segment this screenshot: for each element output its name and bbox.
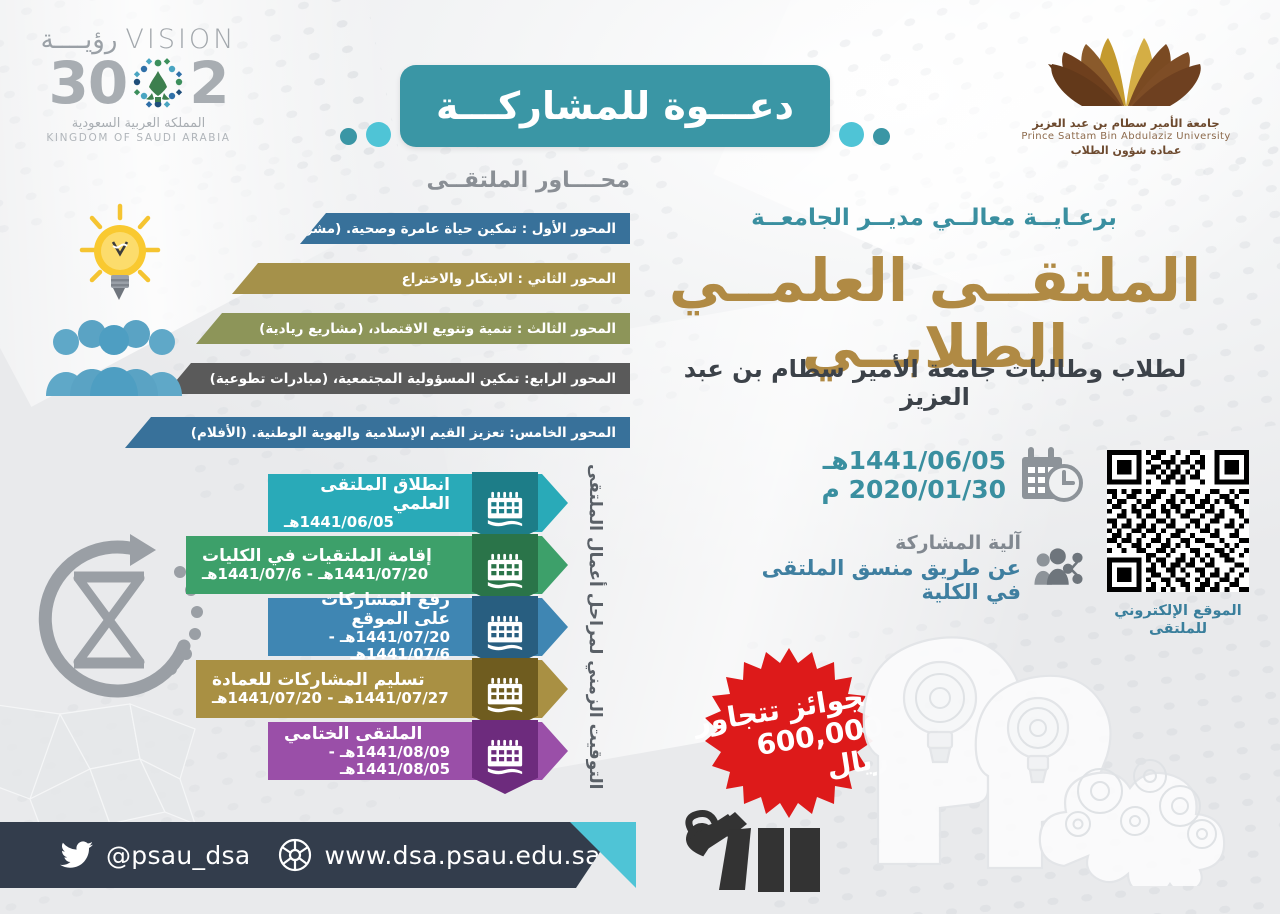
twitter-icon[interactable] xyxy=(60,841,94,869)
university-name-en: Prince Sattam Bin Abdulaziz University xyxy=(1006,131,1246,142)
twitter-handle[interactable]: @psau_dsa xyxy=(106,841,250,870)
qr-block[interactable]: الموقع الإلكتروني للملتقى xyxy=(1098,450,1258,638)
vision-year-left: 2 xyxy=(189,56,228,111)
calendar-clock-icon xyxy=(1018,445,1084,505)
timeline-stage: الملتقى الختامي 1441/08/09هـ - 1441/08/0… xyxy=(268,722,568,780)
timeline-text: تسليم المشاركات للعمادة 1441/07/27هـ - 1… xyxy=(212,660,464,718)
calendar-icon-box xyxy=(472,720,538,794)
heads-gears-decoration xyxy=(850,606,1250,886)
participation-label: آلية المشاركة xyxy=(754,532,1021,554)
timeline-stage-date: 1441/08/09هـ - 1441/08/05هـ xyxy=(284,744,450,778)
theme-label: المحور الرابع: تمكين المسؤولية المجتمعية… xyxy=(210,371,616,387)
timeline-stage-title: تسليم المشاركات للعمادة xyxy=(212,671,425,690)
website-url[interactable]: www.dsa.psau.edu.sa/ar xyxy=(324,841,635,870)
timeline-vertical-text: التوقيت الزمني لمراحل أعمال الملتقى xyxy=(585,464,605,790)
prize-badge: بجوائز تتجاوز 600,000 ريال xyxy=(694,646,884,836)
timeline-stage-date: 1441/07/27هـ - 1441/07/20هـ xyxy=(212,690,449,707)
open-book-emblem-icon xyxy=(1026,18,1226,110)
university-logo: جامعة الأمير سطام بن عبد العزيز Prince S… xyxy=(1006,18,1246,163)
timeline-stage: إقامة الملتقيات في الكليات 1441/07/20هـ … xyxy=(186,536,568,594)
timeline-text: الملتقى الختامي 1441/08/09هـ - 1441/08/0… xyxy=(284,722,464,780)
invitation-pill: دعـــوة للمشاركـــة xyxy=(400,65,830,147)
theme-bar: المحور الرابع: تمكين المسؤولية المجتمعية… xyxy=(165,363,630,394)
calendar-icon xyxy=(485,739,525,775)
qr-caption: الموقع الإلكتروني للملتقى xyxy=(1098,602,1258,638)
hourglass-clock-icon xyxy=(34,528,209,713)
timeline-text: انطلاق الملتقى العلمي 1441/06/05هـ xyxy=(284,474,464,532)
timeline-stage-date: 1441/07/20هـ - 1441/07/6هـ xyxy=(284,629,450,663)
timeline-stage-title: رفع المشاركات على الموقع xyxy=(284,591,450,629)
decorative-dot xyxy=(839,122,864,147)
timeline-stage: انطلاق الملتقى العلمي 1441/06/05هـ xyxy=(268,474,568,532)
starburst-shape xyxy=(694,646,884,836)
theme-label: المحور الأول : تمكين حياة عامرة وصحية. (… xyxy=(247,221,616,237)
themes-section-title: محــــاور الملتقــى xyxy=(427,168,630,193)
participation-value: عن طريق منسق الملتقى في الكلية xyxy=(754,556,1021,604)
people-group-icon xyxy=(44,310,184,396)
decorative-dot xyxy=(340,128,357,145)
globe-icon[interactable] xyxy=(278,838,312,872)
vision-kingdom-en: KINGDOM OF SAUDI ARABIA xyxy=(36,132,241,144)
timeline-vertical-label: التوقيت الزمني لمراحل أعمال الملتقى xyxy=(578,462,612,792)
timeline-stage: رفع المشاركات على الموقع 1441/07/20هـ - … xyxy=(268,598,568,656)
share-people-icon xyxy=(1033,539,1084,597)
theme-label: المحور الثاني : الابتكار والاختراع xyxy=(402,271,616,287)
theme-bar: المحور الثاني : الابتكار والاختراع xyxy=(232,263,630,294)
invitation-label: دعـــوة للمشاركـــة xyxy=(436,84,794,128)
decorative-dot xyxy=(366,122,391,147)
participation-block: آلية المشاركة عن طريق منسق الملتقى في ال… xyxy=(754,532,1084,604)
event-date-text: 1441/06/05هـ 2020/01/30 م xyxy=(822,446,1006,504)
lightbulb-icon xyxy=(72,198,168,316)
theme-bar: المحور الثالث : تنمية وتنويع الاقتصاد، (… xyxy=(196,313,630,344)
timeline-stage-title: الملتقى الختامي xyxy=(284,725,422,744)
calendar-icon xyxy=(485,615,525,651)
event-date-block: 1441/06/05هـ 2020/01/30 م xyxy=(784,445,1084,505)
timeline-stage: تسليم المشاركات للعمادة 1441/07/27هـ - 1… xyxy=(196,660,568,718)
patron-line: برعـايــة معالــي مديــر الجامعــة xyxy=(654,205,1214,231)
vision-palm-emblem-icon xyxy=(128,55,188,113)
theme-label: المحور الخامس: تعزيز القيم الإسلامية وال… xyxy=(191,425,616,441)
website-item[interactable]: www.dsa.psau.edu.sa/ar xyxy=(278,838,635,872)
university-department-ar: عمادة شؤون الطلاب xyxy=(1006,144,1246,157)
event-date-hijri: 1441/06/05هـ xyxy=(822,446,1006,475)
participation-text: آلية المشاركة عن طريق منسق الملتقى في ال… xyxy=(754,532,1021,604)
calendar-icon xyxy=(485,553,525,589)
decorative-dot xyxy=(873,128,890,145)
vision-2030-logo: VISION رؤيــــة 2 xyxy=(36,24,241,154)
timeline-stage-date: 1441/07/20هـ - 1441/07/6هـ xyxy=(202,566,428,583)
university-name-ar: جامعة الأمير سطام بن عبد العزيز xyxy=(1006,116,1246,130)
timeline-stage-date: 1441/06/05هـ xyxy=(284,514,394,531)
timeline-stage-title: انطلاق الملتقى العلمي xyxy=(284,476,450,514)
timeline-text: إقامة الملتقيات في الكليات 1441/07/20هـ … xyxy=(202,536,464,594)
vision-kingdom-ar: المملكة العربية السعودية xyxy=(36,116,241,131)
event-date-gregorian: 2020/01/30 م xyxy=(822,475,1006,504)
theme-label: المحور الثالث : تنمية وتنويع الاقتصاد، (… xyxy=(259,321,616,337)
calendar-icon xyxy=(485,491,525,527)
timeline-stage-title: إقامة الملتقيات في الكليات xyxy=(202,547,432,566)
theme-bar: المحور الأول : تمكين حياة عامرة وصحية. (… xyxy=(300,213,630,244)
invitation-banner: دعـــوة للمشاركـــة xyxy=(336,58,896,168)
twitter-item[interactable]: @psau_dsa xyxy=(60,841,250,870)
qr-code-image[interactable] xyxy=(1107,450,1249,592)
theme-bar: المحور الخامس: تعزيز القيم الإسلامية وال… xyxy=(125,417,630,448)
poster-canvas: VISION رؤيــــة 2 xyxy=(0,0,1280,914)
timeline-text: رفع المشاركات على الموقع 1441/07/20هـ - … xyxy=(284,598,464,656)
audience-line: لطلاب وطالبات جامعة الأمير سطام بن عبد ا… xyxy=(650,355,1220,411)
calendar-icon xyxy=(485,677,525,713)
footer-bar: @psau_dsa www.dsa.psau.edu.sa/ar xyxy=(0,822,620,888)
vision-year-right: 30 xyxy=(48,56,127,111)
